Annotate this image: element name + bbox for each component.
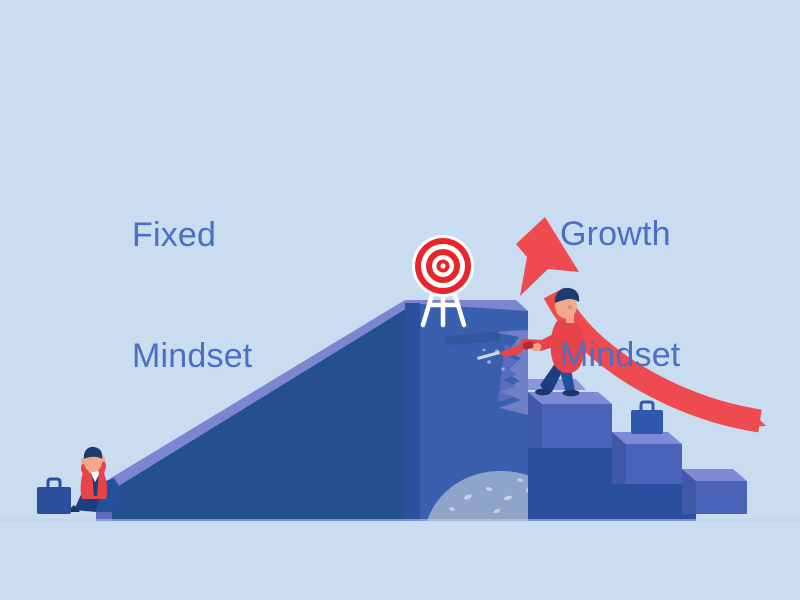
seated-briefcase-body (37, 487, 71, 514)
fixed-mindset-line1: Fixed (132, 215, 252, 255)
illustration-canvas: Fixed Mindset Growth Mindset (0, 0, 800, 600)
dust-fleck (487, 360, 491, 364)
growth-mindset-line1: Growth (560, 214, 680, 254)
dust-fleck (483, 349, 486, 352)
growth-mindset-line2: Mindset (560, 335, 680, 375)
cliff-shadow-strip (405, 303, 420, 521)
dust-fleck (501, 367, 504, 370)
step-3-front (696, 481, 747, 514)
man-shoe-back (535, 389, 551, 396)
step-3 (682, 469, 747, 514)
ground-line (0, 519, 800, 522)
target-bullseye (440, 263, 445, 268)
fixed-mindset-line2: Mindset (132, 336, 252, 376)
growth-mindset-label: Growth Mindset (560, 134, 680, 455)
fixed-mindset-label: Fixed Mindset (132, 135, 252, 456)
